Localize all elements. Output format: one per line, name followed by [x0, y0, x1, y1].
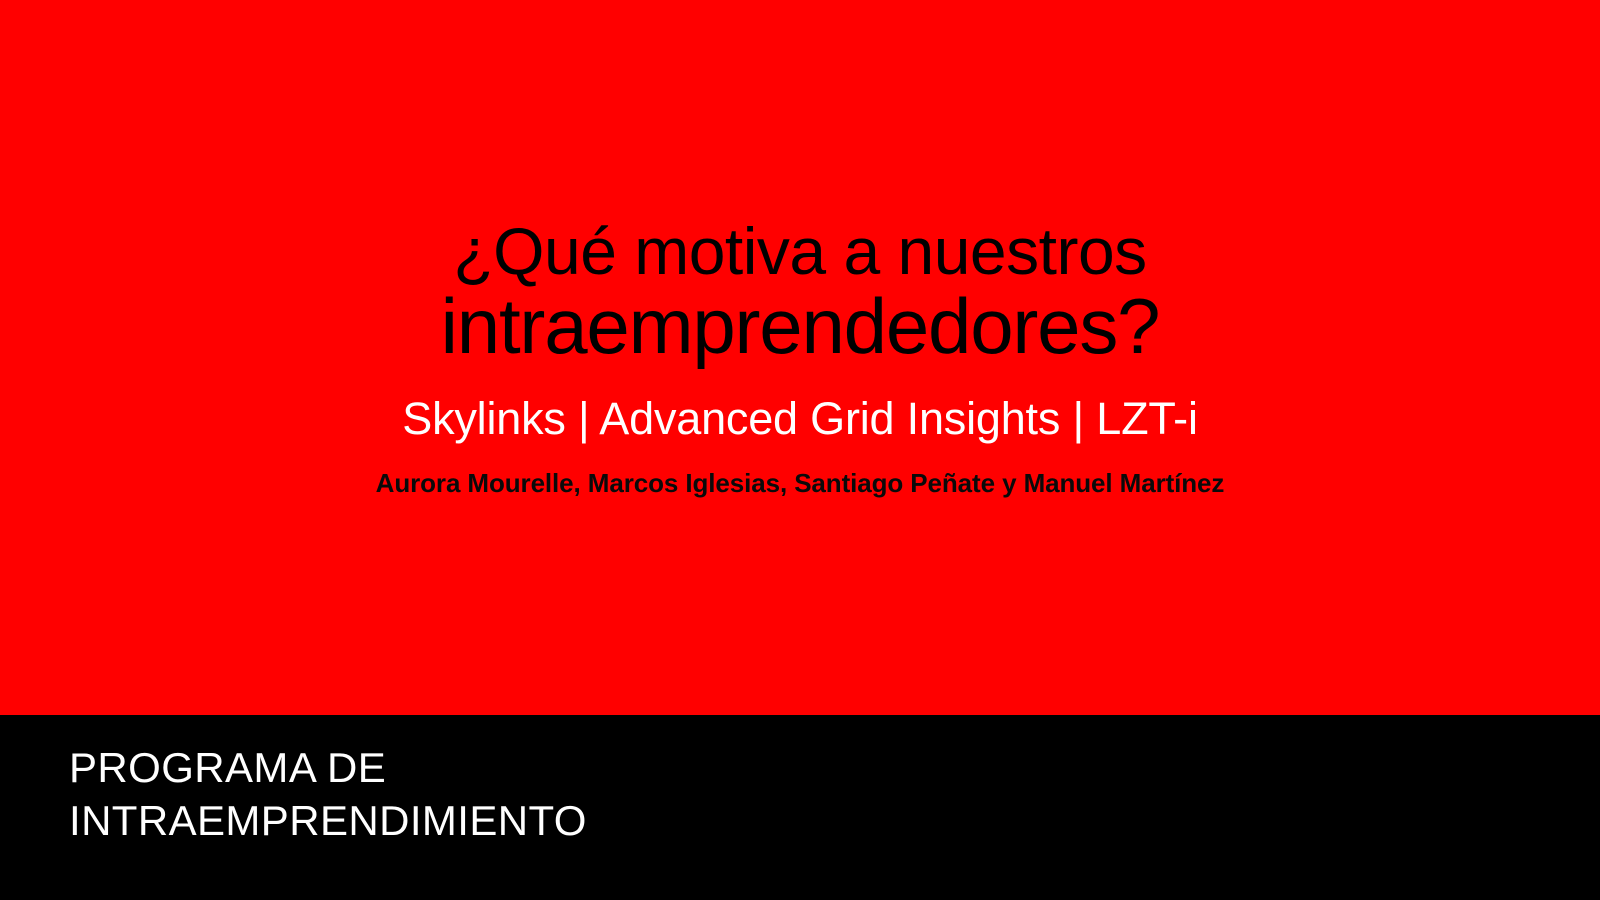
- slide-title-line-2: intraemprendedores?: [0, 284, 1600, 368]
- slide-subtitle: Skylinks | Advanced Grid Insights | LZT-…: [0, 394, 1600, 444]
- program-name-line-2: INTRAEMPRENDIMIENTO: [69, 795, 587, 848]
- program-name-line-1: PROGRAMA DE: [69, 742, 587, 795]
- footer-bar: PROGRAMA DE INTRAEMPRENDIMIENTO elewit G…: [0, 715, 1600, 900]
- hero-red-panel: ¿Qué motiva a nuestros intraemprendedore…: [0, 0, 1600, 715]
- presentation-title-slide: ¿Qué motiva a nuestros intraemprendedore…: [0, 0, 1600, 900]
- slide-authors: Aurora Mourelle, Marcos Iglesias, Santia…: [0, 468, 1600, 499]
- title-block: ¿Qué motiva a nuestros intraemprendedore…: [0, 218, 1600, 499]
- slide-title-line-1: ¿Qué motiva a nuestros: [0, 218, 1600, 284]
- program-name: PROGRAMA DE INTRAEMPRENDIMIENTO: [69, 742, 587, 847]
